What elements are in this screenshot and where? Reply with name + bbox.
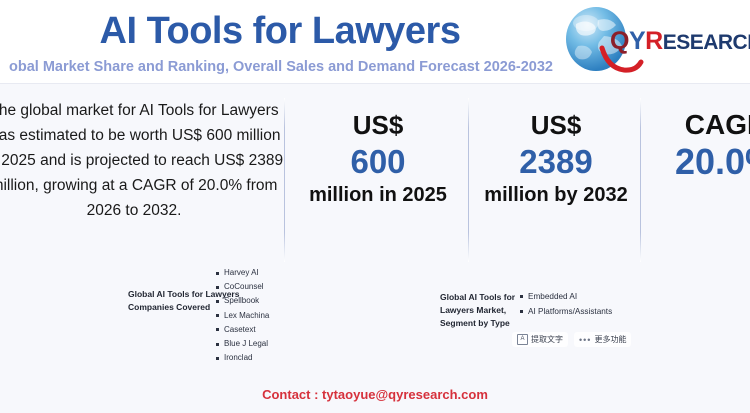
- more-features-label: 更多功能: [594, 334, 626, 345]
- list-item-label: CoCounsel: [224, 280, 264, 294]
- list-item: Spellbook: [216, 294, 346, 308]
- header-band: AI Tools for Lawyers obal Market Share a…: [0, 0, 750, 84]
- qyresearch-logo: QYRESEARCH: [562, 4, 748, 76]
- page-subtitle: obal Market Share and Ranking, Overall S…: [0, 58, 576, 76]
- divider-1: [284, 98, 285, 262]
- page-title: AI Tools for Lawyers: [0, 8, 560, 54]
- bullet-icon: [216, 343, 219, 346]
- bullet-icon: [216, 357, 219, 360]
- segment-list: Embedded AI AI Platforms/Assistants: [520, 289, 670, 319]
- list-item-label: Ironclad: [224, 351, 252, 365]
- stat-cagr-label: CAGR: [646, 108, 750, 142]
- list-item-label: Lex Machina: [224, 309, 269, 323]
- bullet-icon: [216, 328, 219, 331]
- stat-card-2025: US$ 600 million in 2025: [290, 108, 466, 209]
- list-item: Embedded AI: [520, 289, 670, 304]
- logo-letters-esearch: ESEARCH: [663, 31, 750, 54]
- more-features-button[interactable]: ••• 更多功能: [574, 332, 631, 347]
- list-item-label: Spellbook: [224, 294, 259, 308]
- stat-currency-label: US$: [290, 108, 466, 142]
- bullet-icon: [216, 314, 219, 317]
- list-item-label: AI Platforms/Assistants: [528, 304, 612, 319]
- list-item: AI Platforms/Assistants: [520, 304, 670, 319]
- list-item: Lex Machina: [216, 309, 346, 323]
- intro-paragraph: The global market for AI Tools for Lawye…: [0, 98, 284, 223]
- bullet-icon: [520, 310, 523, 313]
- logo-letter-q: Q: [610, 27, 629, 55]
- list-item-label: Casetext: [224, 323, 256, 337]
- bullet-icon: [520, 295, 523, 298]
- logo-wordmark: QYRESEARCH: [610, 28, 750, 56]
- bullet-icon: [216, 272, 219, 275]
- stat-value: 600: [290, 142, 466, 182]
- divider-2: [468, 98, 469, 262]
- stat-card-cagr: CAGR 20.0%: [646, 108, 750, 182]
- more-dots-icon: •••: [579, 335, 591, 345]
- list-item: Blue J Legal: [216, 337, 346, 351]
- extract-text-button[interactable]: A 提取文字: [512, 332, 568, 347]
- list-item: Ironclad: [216, 351, 346, 365]
- bullet-icon: [216, 300, 219, 303]
- list-item-label: Embedded AI: [528, 289, 577, 304]
- stat-cagr-value: 20.0%: [646, 142, 750, 182]
- divider-3: [640, 98, 641, 262]
- stat-currency-label: US$: [474, 108, 638, 142]
- list-item-label: Harvey AI: [224, 266, 259, 280]
- logo-letter-r: R: [645, 27, 663, 55]
- stat-sub-label: million by 2032: [474, 182, 638, 209]
- bullet-icon: [216, 286, 219, 289]
- infographic-root: AI Tools for Lawyers obal Market Share a…: [0, 0, 750, 413]
- stat-value: 2389: [474, 142, 638, 182]
- logo-letter-y: Y: [629, 27, 645, 55]
- contact-line[interactable]: Contact : tytaoyue@qyresearch.com: [0, 386, 750, 404]
- extract-text-label: 提取文字: [531, 334, 563, 345]
- text-recognition-icon: A: [517, 334, 528, 345]
- stats-band: The global market for AI Tools for Lawye…: [0, 84, 750, 264]
- list-item: Harvey AI: [216, 266, 346, 280]
- stat-card-2032: US$ 2389 million by 2032: [474, 108, 638, 209]
- list-item: CoCounsel: [216, 280, 346, 294]
- list-item: Casetext: [216, 323, 346, 337]
- companies-list: Harvey AI CoCounsel Spellbook Lex Machin…: [216, 266, 346, 365]
- stat-sub-label: million in 2025: [290, 182, 466, 209]
- ocr-overlay-toolbar: A 提取文字 ••• 更多功能: [512, 332, 631, 347]
- list-item-label: Blue J Legal: [224, 337, 268, 351]
